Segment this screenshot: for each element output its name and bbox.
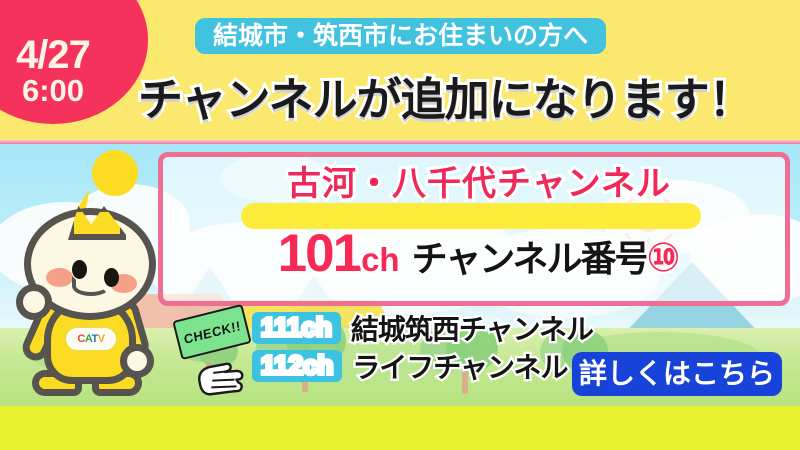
bottom-band bbox=[0, 406, 800, 450]
catv-logo-text: CATV bbox=[77, 333, 104, 345]
date-badge: 4/27 6:00 bbox=[0, 0, 148, 124]
channel-number-line: 101 ch チャンネル番号 ⑩ bbox=[163, 227, 790, 280]
new-channel-name: 古河・八千代チャンネル bbox=[163, 167, 790, 201]
mascot-hand-right bbox=[120, 344, 154, 378]
channel-badge: 112ch bbox=[252, 350, 342, 382]
channel-badge-number: 112ch bbox=[261, 351, 333, 379]
date-badge-date: 4/27 bbox=[16, 36, 90, 75]
audience-pill-label: 結城市・筑西市にお住まいの方へ bbox=[213, 24, 588, 49]
channel-row-name: 結城筑西チャンネル bbox=[351, 308, 593, 348]
mascot-character: CATV bbox=[8, 148, 168, 406]
band-divider bbox=[0, 140, 800, 144]
channel-badge: 111ch bbox=[252, 312, 341, 344]
list-item: 111ch 結城筑西チャンネル bbox=[252, 310, 593, 346]
channel-row-name: ライフチャンネル bbox=[352, 346, 567, 386]
channel-number-label: チャンネル番号 bbox=[412, 241, 649, 277]
page-title: チャンネルが追加になります！ bbox=[138, 68, 798, 130]
pointing-hand-icon bbox=[192, 340, 250, 398]
promo-banner: 結城市・筑西市にお住まいの方へ チャンネルが追加になります！ 4/27 6:00… bbox=[0, 0, 800, 450]
mascot-mouth bbox=[72, 276, 110, 296]
check-tag: CHECK!! bbox=[176, 312, 254, 402]
audience-pill: 結城市・筑西市にお住まいの方へ bbox=[195, 18, 606, 54]
mascot-hand-left bbox=[16, 284, 52, 320]
details-button[interactable]: 詳しくはこちら bbox=[572, 352, 782, 396]
mascot-antenna-ball bbox=[92, 150, 138, 196]
channel-number: 101 bbox=[278, 227, 360, 280]
catv-logo: CATV bbox=[64, 326, 118, 352]
headline-text: チャンネルが追加になります！ bbox=[138, 77, 753, 122]
mascot-cheek-left bbox=[46, 268, 73, 287]
list-item: 112ch ライフチャンネル bbox=[252, 348, 593, 384]
new-channel-name-text: 古河・八千代チャンネル bbox=[287, 165, 671, 203]
details-button-label: 詳しくはこちら bbox=[579, 360, 775, 388]
channel-info-card: 古河・八千代チャンネル 101 ch チャンネル番号 ⑩ bbox=[158, 152, 790, 306]
date-badge-time: 6:00 bbox=[22, 75, 84, 108]
channel-position-circled: ⑩ bbox=[647, 238, 681, 278]
channel-badge-number: 111ch bbox=[261, 313, 332, 341]
existing-channel-list: 111ch 結城筑西チャンネル 112ch ライフチャンネル bbox=[252, 310, 593, 386]
channel-number-unit: ch bbox=[361, 243, 400, 276]
